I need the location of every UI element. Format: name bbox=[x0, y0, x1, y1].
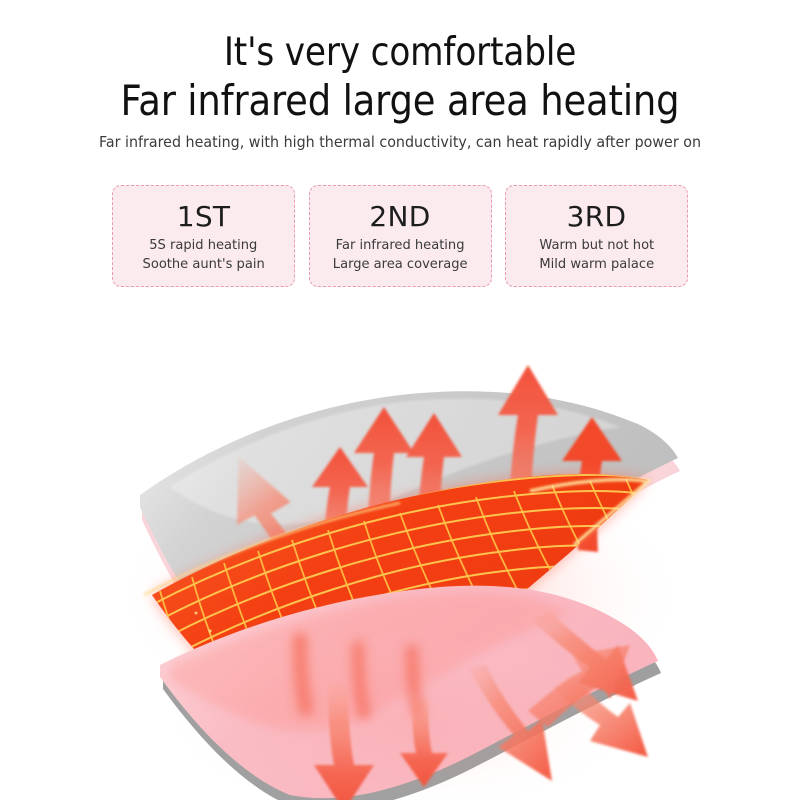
feature-card-line-2: Large area coverage bbox=[333, 255, 468, 274]
heating-layers-illustration bbox=[100, 295, 700, 800]
headline-line-1: It's very comfortable bbox=[48, 30, 752, 76]
feature-card-rank: 3RD bbox=[567, 201, 627, 233]
feature-card-3rd: 3RD Warm but not hot Mild warm palace bbox=[505, 185, 688, 287]
header-block: It's very comfortable Far infrared large… bbox=[0, 30, 800, 152]
infographic-page: It's very comfortable Far infrared large… bbox=[0, 0, 800, 800]
headline-line-2: Far infrared large area heating bbox=[48, 76, 752, 125]
feature-cards-row: 1ST 5S rapid heating Soothe aunt's pain … bbox=[112, 185, 688, 287]
feature-card-line-2: Soothe aunt's pain bbox=[142, 255, 264, 274]
subheadline: Far infrared heating, with high thermal … bbox=[32, 132, 768, 152]
feature-card-line-2: Mild warm palace bbox=[539, 255, 654, 274]
feature-card-1st: 1ST 5S rapid heating Soothe aunt's pain bbox=[112, 185, 295, 287]
feature-card-rank: 1ST bbox=[177, 201, 231, 233]
feature-card-line-1: Warm but not hot bbox=[539, 236, 654, 255]
feature-card-line-1: 5S rapid heating bbox=[149, 236, 257, 255]
feature-card-rank: 2ND bbox=[369, 201, 430, 233]
feature-card-2nd: 2ND Far infrared heating Large area cove… bbox=[309, 185, 492, 287]
feature-card-line-1: Far infrared heating bbox=[336, 236, 465, 255]
